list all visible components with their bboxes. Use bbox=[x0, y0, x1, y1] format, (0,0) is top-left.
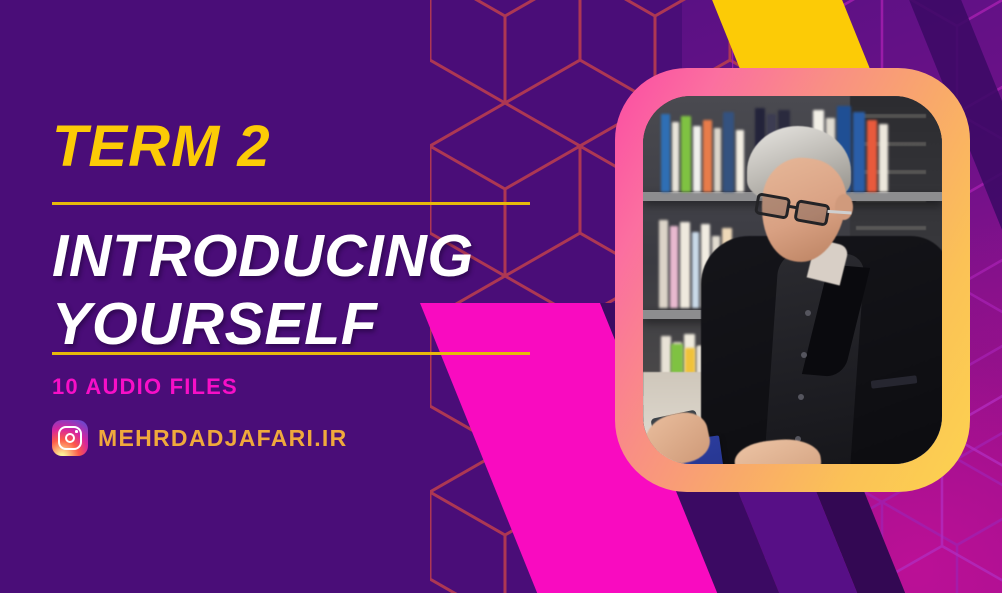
divider-bottom bbox=[52, 352, 530, 355]
photo-frame bbox=[615, 68, 970, 492]
term-label: TERM 2 bbox=[52, 118, 271, 176]
subtitle-audio-count: 10 AUDIO FILES bbox=[52, 374, 238, 400]
photo-shirt-button bbox=[805, 310, 811, 316]
photo-shirt-button bbox=[801, 352, 807, 358]
photo-shirt-button bbox=[798, 394, 804, 400]
divider-top bbox=[52, 202, 530, 205]
text-content-block: TERM 2 INTRODUCING YOURSELF 10 AUDIO FIL… bbox=[52, 0, 552, 593]
poster-canvas: TERM 2 INTRODUCING YOURSELF 10 AUDIO FIL… bbox=[0, 0, 1002, 593]
instagram-icon[interactable] bbox=[52, 420, 88, 456]
page-title-line-2: YOURSELF bbox=[52, 290, 572, 358]
photo-person bbox=[643, 96, 942, 464]
page-title: INTRODUCING YOURSELF bbox=[52, 222, 572, 359]
social-handle-label[interactable]: MEHRDADJAFARI.IR bbox=[98, 425, 348, 452]
page-title-line-1: INTRODUCING bbox=[52, 222, 572, 290]
photo-image bbox=[643, 96, 942, 464]
social-handle-row[interactable]: MEHRDADJAFARI.IR bbox=[52, 420, 348, 456]
